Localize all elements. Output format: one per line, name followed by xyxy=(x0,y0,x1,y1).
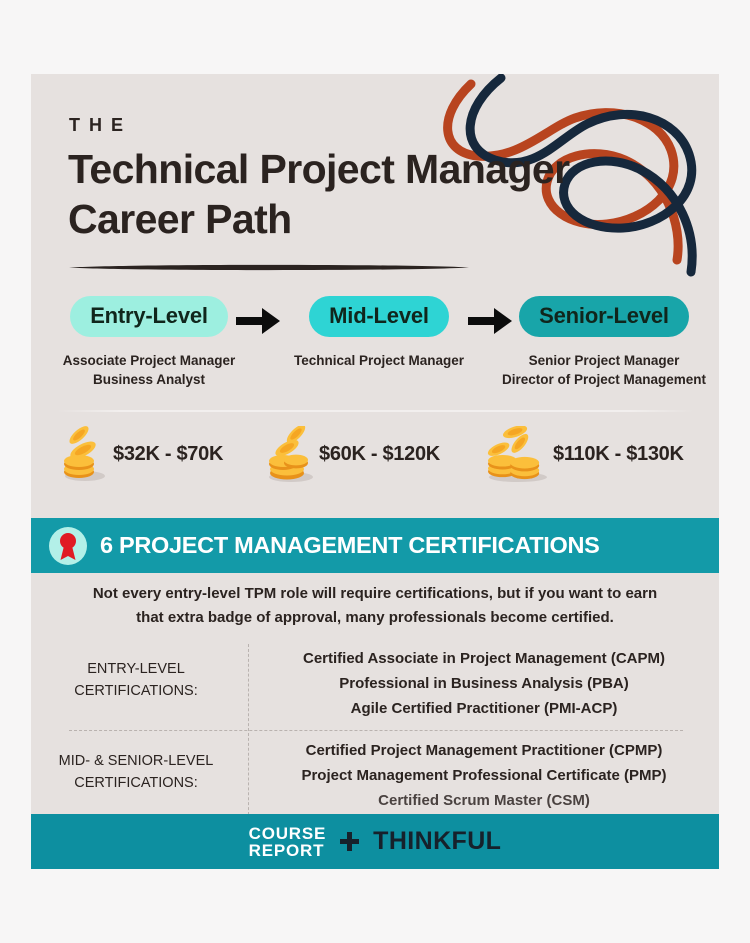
salary-mid: $60K - $120K xyxy=(263,426,440,482)
level-roles-senior: Senior Project Manager Director of Proje… xyxy=(493,351,715,389)
certifications-intro: Not every entry-level TPM role will requ… xyxy=(85,582,665,630)
certifications-banner-title: 6 PROJECT MANAGEMENT CERTIFICATIONS xyxy=(100,532,600,559)
infographic-card: THE Technical Project Manager Career Pat… xyxy=(31,74,719,869)
cert-item: Certified Scrum Master (CSM) xyxy=(259,788,709,813)
salary-amount-senior: $110K - $130K xyxy=(553,443,684,466)
award-ribbon-icon xyxy=(48,526,88,566)
cert-item: Certified Project Management Practitione… xyxy=(259,738,709,763)
level-roles-entry: Associate Project Manager Business Analy… xyxy=(39,351,259,389)
salary-amount-entry: $32K - $70K xyxy=(113,443,223,466)
title-underline xyxy=(69,264,469,271)
certifications-table: ENTRY-LEVEL CERTIFICATIONS: Certified As… xyxy=(31,642,719,822)
level-column-senior: Senior-Level Senior Project Manager Dire… xyxy=(493,296,715,389)
level-pill-entry[interactable]: Entry-Level xyxy=(70,296,228,337)
level-pill-senior[interactable]: Senior-Level xyxy=(519,296,689,337)
salary-divider xyxy=(57,410,693,412)
cert-item: Project Management Professional Certific… xyxy=(259,763,709,788)
thinkful-logo[interactable]: THINKFUL xyxy=(373,827,501,856)
table-horizontal-divider xyxy=(69,730,683,731)
coin-stack-icon xyxy=(57,426,109,482)
cert-row-label: ENTRY-LEVEL CERTIFICATIONS: xyxy=(31,658,241,702)
certifications-banner: 6 PROJECT MANAGEMENT CERTIFICATIONS xyxy=(31,518,719,573)
career-levels-row: Entry-Level Associate Project Manager Bu… xyxy=(31,296,719,416)
level-column-entry: Entry-Level Associate Project Manager Bu… xyxy=(39,296,259,389)
level-column-mid: Mid-Level Technical Project Manager xyxy=(269,296,489,370)
course-report-logo[interactable]: COURSE REPORT xyxy=(249,825,327,859)
course-report-line2: REPORT xyxy=(249,842,327,859)
page-title: Technical Project Manager Career Path xyxy=(68,144,648,244)
footer-branding: COURSE REPORT THINKFUL xyxy=(31,814,719,869)
level-roles-mid: Technical Project Manager xyxy=(269,351,489,370)
cert-row-items: Certified Project Management Practitione… xyxy=(259,738,709,813)
cert-row-label: MID- & SENIOR-LEVEL CERTIFICATIONS: xyxy=(31,750,241,794)
cert-item: Professional in Business Analysis (PBA) xyxy=(259,671,709,696)
salary-row: $32K - $70K xyxy=(31,426,719,496)
salary-amount-mid: $60K - $120K xyxy=(319,443,440,466)
coin-stack-icon xyxy=(483,426,549,482)
cert-item: Certified Associate in Project Managemen… xyxy=(259,646,709,671)
salary-entry: $32K - $70K xyxy=(57,426,223,482)
table-vertical-divider xyxy=(248,644,249,820)
course-report-line1: COURSE xyxy=(249,825,327,842)
plus-icon xyxy=(340,832,359,851)
level-pill-mid[interactable]: Mid-Level xyxy=(309,296,449,337)
cert-item: Agile Certified Practitioner (PMI-ACP) xyxy=(259,696,709,721)
coin-stack-icon xyxy=(263,426,315,482)
infographic-page: THE Technical Project Manager Career Pat… xyxy=(0,0,750,943)
eyebrow-text: THE xyxy=(69,115,132,136)
salary-senior: $110K - $130K xyxy=(483,426,684,482)
cert-row-items: Certified Associate in Project Managemen… xyxy=(259,646,709,721)
